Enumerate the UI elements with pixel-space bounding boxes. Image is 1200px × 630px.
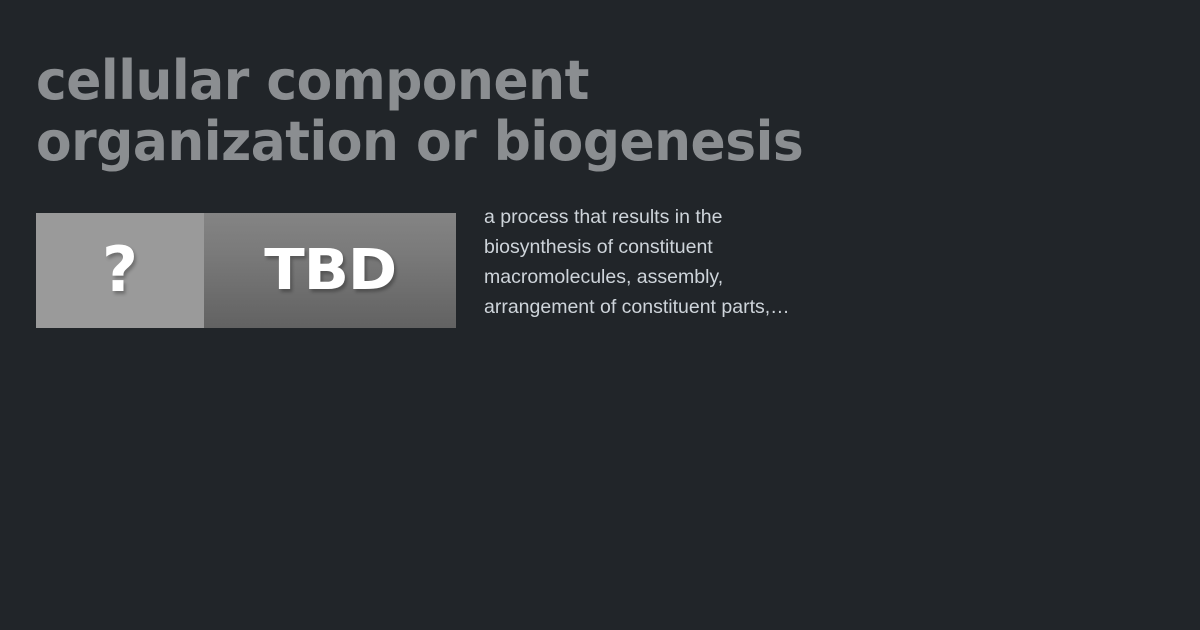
content-row: ? TBD a process that results in the bios… [36,213,1166,328]
title-block: cellular component organization or bioge… [36,50,1036,172]
thumbnail-right-panel: TBD [204,213,456,328]
thumbnail-left-panel: ? [36,213,204,328]
question-mark-icon: ? [102,239,138,301]
description-text: a process that results in the biosynthes… [484,202,864,322]
page-title: cellular component organization or bioge… [36,50,996,172]
thumbnail-image: ? TBD [36,213,456,328]
og-preview-card: cellular component organization or bioge… [0,0,1200,630]
tbd-label: TBD [264,243,396,299]
